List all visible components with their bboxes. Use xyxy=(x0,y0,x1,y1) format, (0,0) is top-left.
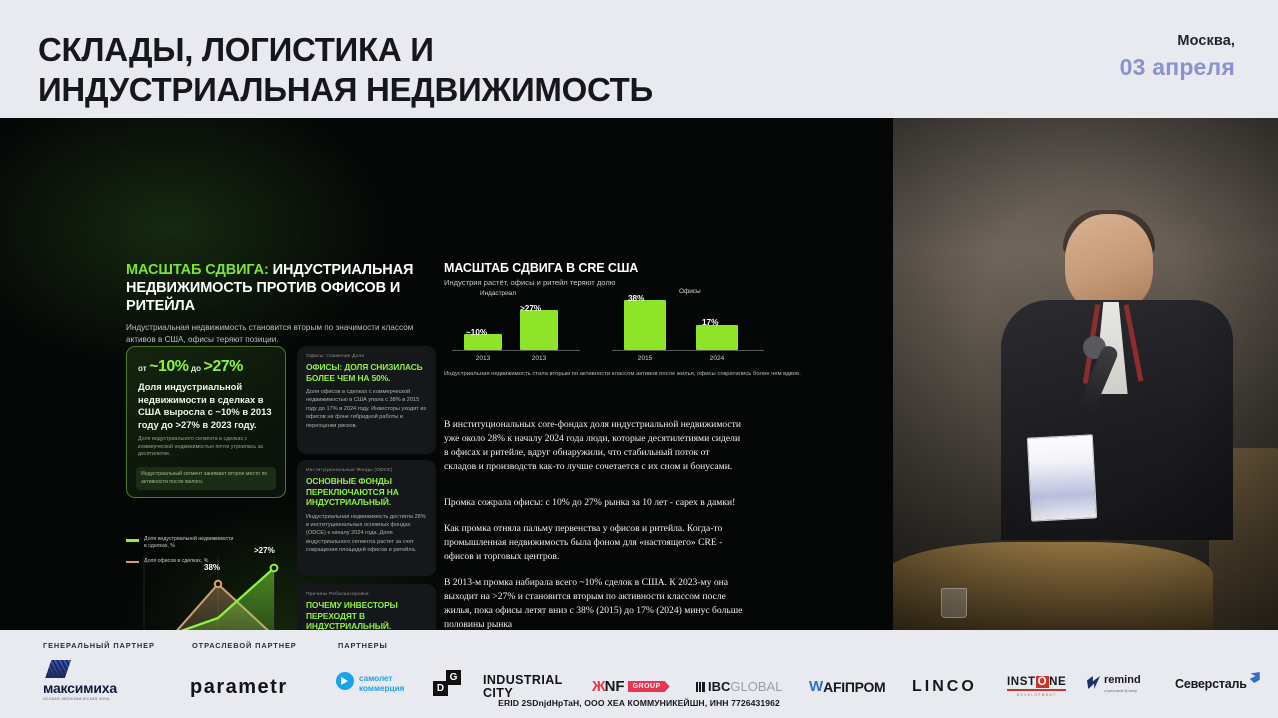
partner-kicker-general: ГЕНЕРАЛЬНЫЙ ПАРТНЕР xyxy=(43,641,155,650)
bar-axis-industrial xyxy=(452,350,580,351)
logo-gd[interactable]: G D xyxy=(433,670,463,696)
info-card-title: ОСНОВНЫЕ ФОНДЫ ПЕРЕКЛЮЧАЮТСЯ НА ИНДУСТРИ… xyxy=(306,476,427,508)
info-card-kicker: Институциональные Фонды (ODCE) xyxy=(306,468,427,473)
logo-afi-prom[interactable]: W AFIПРОМ xyxy=(809,678,885,695)
page-title: СКЛАДЫ, ЛОГИСТИКА И ИНДУСТРИАЛЬНАЯ НЕДВИ… xyxy=(38,30,653,111)
linco-name: LINCO xyxy=(912,678,977,695)
info-card-kicker: Причины Ребалансировки xyxy=(306,592,427,597)
page-title-line1: СКЛАДЫ, ЛОГИСТИКА И xyxy=(38,31,434,68)
bar-tick-industrial-2013: 2013 xyxy=(464,355,502,362)
data-label-industrial-2024: >27% xyxy=(254,546,275,555)
bar-offices-2015 xyxy=(624,300,666,350)
highlight-from-label: от xyxy=(138,364,147,373)
bar-value-offices-2024: 17% xyxy=(702,318,718,327)
broadcast-stage: МАСШТАБ СДВИГА: ИНДУСТРИАЛЬНАЯ НЕДВИЖИМО… xyxy=(0,118,1278,630)
presentation-slide[interactable]: МАСШТАБ СДВИГА: ИНДУСТРИАЛЬНАЯ НЕДВИЖИМО… xyxy=(0,118,893,630)
info-card-why-investors: Причины Ребалансировки ПОЧЕМУ ИНВЕСТОРЫ … xyxy=(297,584,436,630)
maksimiha-name: максимиха xyxy=(43,680,117,696)
highlight-card-body: Доля индустриальной недвижимости в сделк… xyxy=(138,381,275,431)
bar-group-label-offices: Офисы xyxy=(679,288,701,295)
article-paragraph-2: Промка сожрала офисы: с 10% до 27% рынка… xyxy=(444,496,744,510)
erid-disclosure: ERID 2SDnjdHpTaH, ООО ХЕА КОММУНИКЕЙШН, … xyxy=(0,698,1278,708)
logo-instone[interactable]: INSTONE DEVELOPMENT xyxy=(1007,676,1066,697)
line-chart: Доля индустриальной недвижимости в сделк… xyxy=(126,536,298,630)
highlight-to-label: до xyxy=(191,364,201,373)
bar-value-industrial-2023: >27% xyxy=(520,304,541,313)
maksimiha-mark-icon xyxy=(43,660,71,678)
info-card-title: ОФИСЫ: ДОЛЯ СНИЗИЛАСЬ БОЛЕЕ ЧЕМ НА 50%. xyxy=(306,362,427,383)
logo-severstal[interactable]: Северсталь xyxy=(1175,677,1260,691)
highlight-card-footer: Индустриальный сегмент занимает второе м… xyxy=(136,467,276,490)
bar-tick-offices-2024: 2024 xyxy=(696,355,738,362)
instone-part-b: NE xyxy=(1049,676,1066,688)
bar-tick-offices-2015: 2015 xyxy=(624,355,666,362)
logo-nf-group[interactable]: Ж NF GROUP xyxy=(592,678,670,695)
highlight-to-value: >27% xyxy=(204,358,243,375)
partner-kicker-industry: ОТРАСЛЕВОЙ ПАРТНЕР xyxy=(192,641,297,650)
ibc-light-text: GLOBAL xyxy=(730,679,782,694)
instone-part-o: O xyxy=(1036,676,1050,688)
remind-mark-icon xyxy=(1087,676,1100,689)
article-text: В институциональных core-фондах доля инд… xyxy=(444,418,744,630)
highlight-card-industrial-share: от ~10% до >27% Доля индустриальной недв… xyxy=(126,346,286,498)
infographic-right-header: МАСШТАБ СДВИГА В CRE США Индустрия растё… xyxy=(444,261,824,287)
infographic-left-header: МАСШТАБ СДВИГА: ИНДУСТРИАЛЬНАЯ НЕДВИЖИМО… xyxy=(126,261,432,346)
instone-subtitle: DEVELOPMENT xyxy=(1007,693,1066,697)
bar-chart-title: МАСШТАБ СДВИГА В CRE США xyxy=(444,261,824,275)
severstal-mark-icon xyxy=(1250,672,1260,683)
severstal-name: Северсталь xyxy=(1175,677,1247,691)
info-card-offices-decline: Офисы: Снижение Доли ОФИСЫ: ДОЛЯ СНИЗИЛА… xyxy=(297,346,436,454)
article-paragraph-4: В 2013-м промка набирала всего ~10% сдел… xyxy=(444,576,744,630)
bar-value-industrial-2013: ~10% xyxy=(466,328,487,337)
event-meta: Москва, 03 апреля xyxy=(1120,33,1235,81)
infographic-left-title: МАСШТАБ СДВИГА: ИНДУСТРИАЛЬНАЯ НЕДВИЖИМО… xyxy=(126,261,432,315)
event-date: 03 апреля xyxy=(1120,54,1235,81)
industrial-city-line1: INDUSTRIAL xyxy=(483,674,563,687)
bar-value-offices-2015: 38% xyxy=(628,294,644,303)
article-paragraph-3: Как промка отняла пальму первенства у оф… xyxy=(444,522,744,564)
info-card-body: Индустриальная недвижимость достигла 28%… xyxy=(306,513,427,555)
nf-name: NF xyxy=(605,678,625,695)
article-paragraph-1: В институциональных core-фондах доля инд… xyxy=(444,418,744,474)
speaker-video-feed[interactable]: ЕВГЕНИЙ НУМЕРОВ Спикер сессии xyxy=(893,118,1278,630)
bar-chart-footnote: Индустриальная недвижимость стала вторым… xyxy=(444,370,804,379)
gd-mark-icon: G D xyxy=(433,670,463,696)
bar-tick-industrial-2023: 2013 xyxy=(520,355,558,362)
bar-chart: Индастриал Офисы ~10% 2013 >27% 2013 38%… xyxy=(444,290,764,362)
gd-letter-d: D xyxy=(433,681,448,696)
page-header: СКЛАДЫ, ЛОГИСТИКА И ИНДУСТРИАЛЬНАЯ НЕДВИ… xyxy=(0,0,1278,118)
bar-industrial-2023 xyxy=(520,310,558,350)
remind-subtitle: страховой брокер xyxy=(1104,688,1141,693)
info-card-title: ПОЧЕМУ ИНВЕСТОРЫ ПЕРЕХОДЯТ В ИНДУСТРИАЛЬ… xyxy=(306,600,427,630)
ibc-bars-icon xyxy=(696,682,705,692)
gd-letter-g: G xyxy=(446,670,461,685)
highlight-card-headline: от ~10% до >27% xyxy=(138,358,275,376)
logo-ibc-global[interactable]: IBC GLOBAL xyxy=(696,679,782,694)
logo-industrial-city[interactable]: INDUSTRIAL CITY xyxy=(483,674,563,699)
info-card-odce-funds: Институциональные Фонды (ODCE) ОСНОВНЫЕ … xyxy=(297,460,436,576)
info-card-kicker: Офисы: Снижение Доли xyxy=(306,354,427,359)
partner-kicker-partners: ПАРТНЕРЫ xyxy=(338,641,388,650)
afi-text: AFIПРОМ xyxy=(823,679,885,695)
logo-remind[interactable]: remind страховой брокер xyxy=(1087,675,1141,693)
logo-linco[interactable]: LINCO xyxy=(912,678,977,696)
page-title-line2: ИНДУСТРИАЛЬНАЯ НЕДВИЖИМОСТЬ xyxy=(38,70,653,110)
video-vignette xyxy=(893,118,1278,630)
bar-offices-2024 xyxy=(696,325,738,350)
highlight-card-note: Доля индустриального сегмента в сделках … xyxy=(138,436,275,459)
parametr-name: parametr xyxy=(190,676,288,699)
infographic-title-accent: МАСШТАБ СДВИГА: xyxy=(126,262,269,278)
bar-axis-offices xyxy=(612,350,764,351)
remind-text-block: remind страховой брокер xyxy=(1104,675,1141,693)
nf-group-badge: GROUP xyxy=(628,681,670,692)
event-city: Москва, xyxy=(1120,33,1235,49)
ibc-bold-text: IBC xyxy=(708,679,730,694)
logo-parametr[interactable]: parametr xyxy=(190,676,288,699)
afi-mark-icon: W xyxy=(809,678,823,695)
remind-name: remind xyxy=(1104,675,1141,686)
data-label-offices-2015: 38% xyxy=(204,563,220,572)
bar-chart-subtitle: Индустрия растёт, офисы и ритейл теряют … xyxy=(444,278,824,287)
highlight-from-value: ~10% xyxy=(149,358,188,375)
nf-mark-icon: Ж xyxy=(592,678,605,695)
instone-part-a: INST xyxy=(1007,676,1036,688)
logo-samolet[interactable]: самолет коммерция xyxy=(336,674,446,695)
infographic-left-subtitle: Индустриальная недвижимость становится в… xyxy=(126,322,416,346)
samolet-arrow-icon xyxy=(336,672,354,690)
instone-name: INSTONE xyxy=(1007,676,1066,691)
bar-group-label-industrial: Индастриал xyxy=(480,290,516,297)
info-card-body: Доля офисов в сделках с коммерческой нед… xyxy=(306,388,427,430)
